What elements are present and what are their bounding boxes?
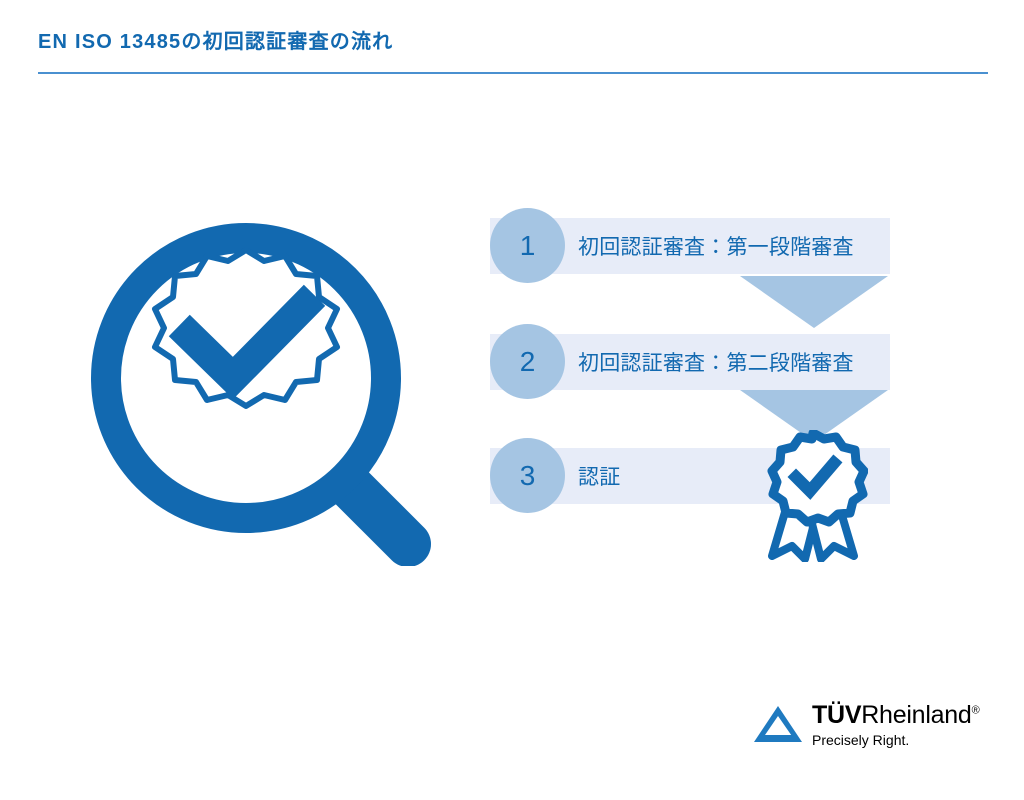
slide-canvas: EN ISO 13485の初回認証審査の流れ 1 初回認証審査：第一段階審査 bbox=[0, 0, 1024, 800]
flow-step-3[interactable]: 3 認証 bbox=[490, 448, 890, 504]
flow-step-2[interactable]: 2 初回認証審査：第二段階審査 bbox=[490, 334, 890, 390]
magnifier-gear-check-icon bbox=[78, 178, 433, 566]
logo-tuv-text: TÜV bbox=[812, 701, 861, 729]
title-divider bbox=[38, 72, 988, 74]
step-number-badge: 1 bbox=[490, 208, 565, 283]
step-label: 初回認証審査：第一段階審査 bbox=[578, 218, 854, 274]
registered-mark-icon: ® bbox=[972, 705, 980, 717]
step-label: 初回認証審査：第二段階審査 bbox=[578, 334, 854, 390]
tuv-rheinland-logo: TÜVRheinland® Precisely Right. bbox=[752, 702, 992, 758]
step-number-label: 3 bbox=[520, 462, 536, 490]
tuv-rheinland-triangle-icon bbox=[752, 704, 804, 744]
logo-rheinland-text: Rheinland bbox=[861, 701, 971, 729]
step-number-badge: 3 bbox=[490, 438, 565, 513]
step-label: 認証 bbox=[578, 448, 620, 504]
down-arrow-icon bbox=[740, 276, 888, 328]
step-number-badge: 2 bbox=[490, 324, 565, 399]
process-flow: 1 初回認証審査：第一段階審査 2 初回認証審査：第二段階審査 bbox=[490, 218, 910, 518]
page-title: EN ISO 13485の初回認証審査の流れ bbox=[38, 30, 988, 54]
logo-tagline: Precisely Right. bbox=[812, 733, 979, 748]
step-number-label: 2 bbox=[520, 348, 536, 376]
flow-step-1[interactable]: 1 初回認証審査：第一段階審査 bbox=[490, 218, 890, 274]
slide-header: EN ISO 13485の初回認証審査の流れ bbox=[38, 30, 988, 54]
step-number-label: 1 bbox=[520, 232, 536, 260]
logo-wordmark: TÜVRheinland® Precisely Right. bbox=[812, 702, 979, 748]
award-ribbon-check-icon bbox=[758, 430, 868, 562]
